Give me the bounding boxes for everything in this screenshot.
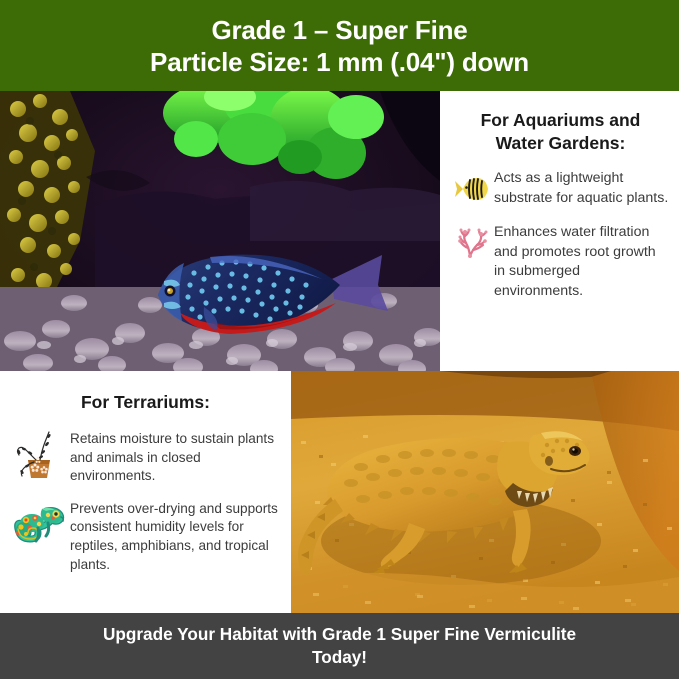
header-banner: Grade 1 – Super Fine Particle Size: 1 mm…: [0, 0, 679, 91]
footer-cta-line2: Today!: [312, 646, 367, 669]
terrarium-bullet-1-text: Retains moisture to sustain plants and a…: [70, 430, 283, 486]
chameleon-icon: [8, 500, 70, 550]
terrarium-heading: For Terrariums:: [8, 391, 283, 414]
bearded-dragon-illustration: [291, 371, 679, 613]
footer-cta-line1: Upgrade Your Habitat with Grade 1 Super …: [103, 623, 576, 646]
aquarium-bullet-1-text: Acts as a lightweight substrate for aqua…: [494, 169, 669, 208]
aquarium-heading-line1: For Aquariums and: [481, 110, 641, 130]
terrarium-bullet-2: Prevents over-drying and supports consis…: [8, 500, 283, 574]
aquarium-bullet-1: Acts as a lightweight substrate for aqua…: [452, 169, 669, 209]
terrarium-bullet-2-text: Prevents over-drying and supports consis…: [70, 500, 283, 574]
aquarium-photo-illustration: [0, 91, 440, 371]
product-infographic: Grade 1 – Super Fine Particle Size: 1 mm…: [0, 0, 679, 679]
footer-banner: Upgrade Your Habitat with Grade 1 Super …: [0, 613, 679, 679]
header-title-line2: Particle Size: 1 mm (.04") down: [150, 46, 529, 78]
aquarium-heading-line2: Water Gardens:: [496, 133, 626, 153]
coral-icon: [452, 223, 494, 263]
aquarium-bullet-2: Enhances water filtration and promotes r…: [452, 223, 669, 301]
potted-plant-icon: [8, 430, 70, 480]
aquarium-photo: [0, 91, 440, 371]
terrarium-bullet-1: Retains moisture to sustain plants and a…: [8, 430, 283, 486]
terrarium-text-panel: For Terrariums:: [0, 371, 291, 613]
bearded-dragon-photo: [291, 371, 679, 613]
aquarium-heading: For Aquariums and Water Gardens:: [452, 109, 669, 155]
aquarium-text-panel: For Aquariums and Water Gardens: Acts: [440, 91, 679, 371]
header-title-line1: Grade 1 – Super Fine: [211, 14, 467, 46]
tropical-fish-icon: [452, 169, 494, 209]
aquarium-bullet-2-text: Enhances water filtration and promotes r…: [494, 223, 669, 301]
